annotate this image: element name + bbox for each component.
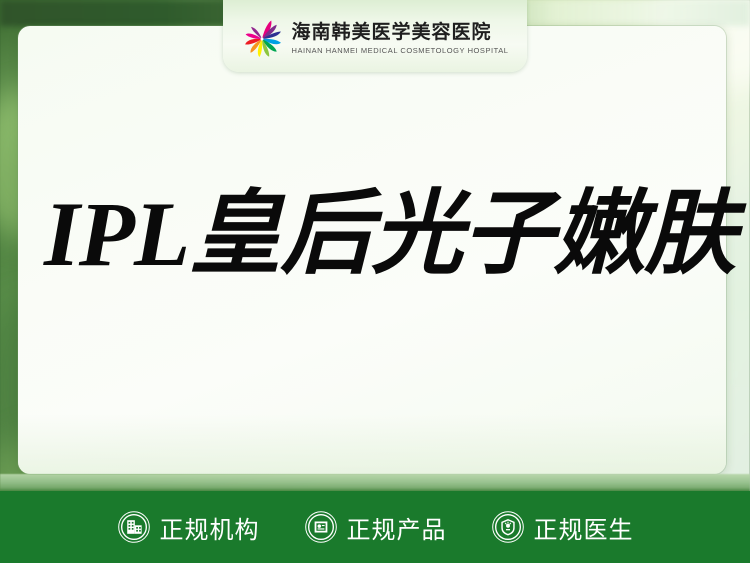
trust-badge: 正规产品	[304, 510, 447, 545]
hospital-name-cn: 海南韩美医学美容医院	[291, 23, 508, 42]
hospital-name-en: HAINAN HANMEI MEDICAL COSMETOLOGY HOSPIT…	[291, 47, 508, 55]
trust-badge: 正规机构	[117, 510, 260, 545]
shield-doctor-icon	[491, 510, 525, 544]
hospital-logo-tab: 海南韩美医学美容医院 HAINAN HANMEI MEDICAL COSMETO…	[223, 0, 527, 72]
hospital-building-icon	[117, 510, 151, 544]
hanmei-swirl-logo-icon	[241, 18, 283, 60]
card-footer-gradient-strip	[0, 474, 750, 492]
headline-title: IPL皇后光子嫩肤	[44, 188, 734, 280]
trust-badge-label: 正规产品	[347, 510, 447, 545]
certified-product-icon	[304, 510, 338, 544]
promo-poster: 海南韩美医学美容医院 HAINAN HANMEI MEDICAL COSMETO…	[0, 0, 750, 563]
hospital-name-block: 海南韩美医学美容医院 HAINAN HANMEI MEDICAL COSMETO…	[291, 23, 508, 55]
trust-badge-label: 正规机构	[160, 510, 260, 545]
card-bottom-sheen	[18, 414, 726, 474]
trust-badge: 正规医生	[491, 510, 634, 545]
trust-badge-label: 正规医生	[534, 510, 634, 545]
trust-badge-bar: 正规机构 正规产品	[0, 491, 750, 563]
